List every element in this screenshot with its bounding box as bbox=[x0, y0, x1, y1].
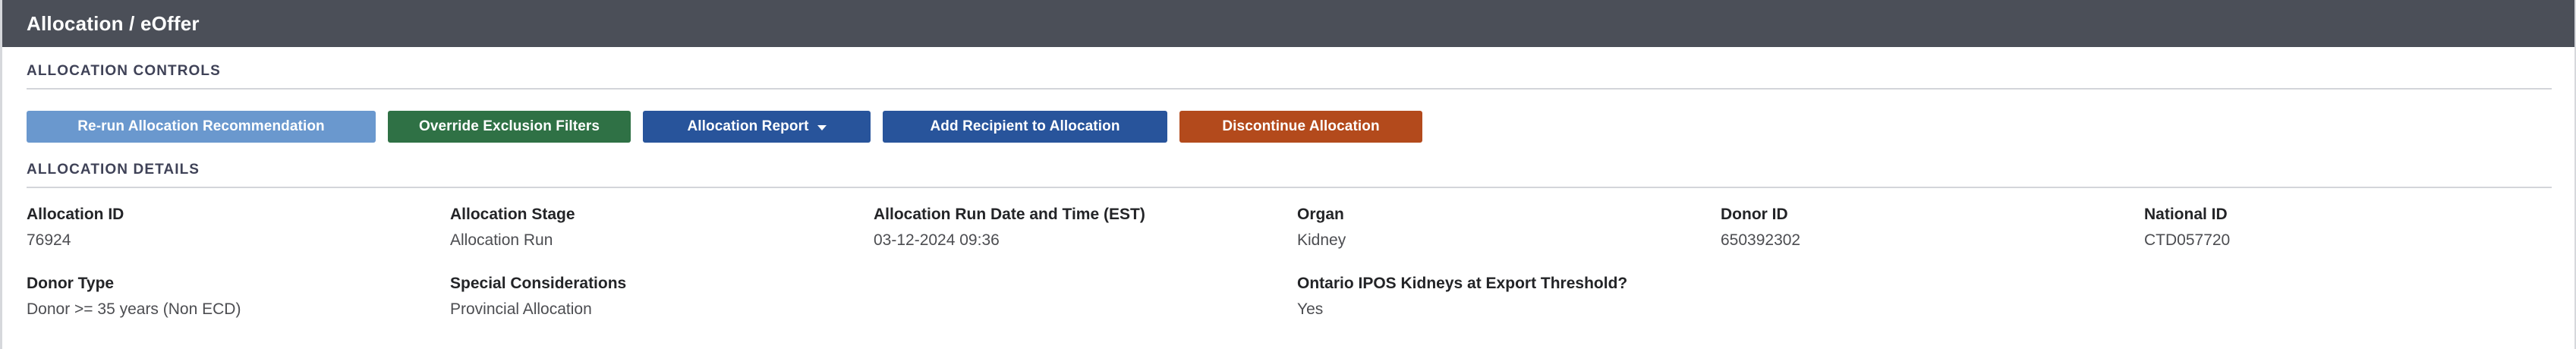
allocation-eoffer-page: Allocation / eOffer Allocation Controls … bbox=[0, 0, 2576, 349]
field-label: Allocation Run Date and Time (EST) bbox=[874, 205, 1297, 225]
window-titlebar: Allocation / eOffer bbox=[2, 0, 2574, 47]
field-value: Allocation Run bbox=[450, 231, 874, 250]
field-value: 03-12-2024 09:36 bbox=[874, 231, 1297, 250]
field-donor-id: Donor ID 650392302 bbox=[1721, 205, 2144, 251]
add-recipient-to-allocation-button[interactable]: Add Recipient to Allocation bbox=[883, 111, 1167, 143]
chevron-down-icon bbox=[817, 125, 827, 130]
override-exclusion-filters-label: Override Exclusion Filters bbox=[419, 118, 600, 135]
page-title: Allocation / eOffer bbox=[27, 12, 200, 36]
allocation-details-heading: Allocation Details bbox=[27, 146, 2552, 187]
field-value: 76924 bbox=[27, 231, 450, 250]
field-value: CTD057720 bbox=[2144, 231, 2568, 250]
allocation-report-label: Allocation Report bbox=[687, 118, 808, 135]
allocation-controls-heading: Allocation Controls bbox=[27, 47, 2552, 88]
rerun-allocation-recommendation-label: Re-run Allocation Recommendation bbox=[77, 118, 325, 135]
field-value: Donor >= 35 years (Non ECD) bbox=[27, 300, 450, 319]
rerun-allocation-recommendation-button[interactable]: Re-run Allocation Recommendation bbox=[27, 111, 376, 143]
add-recipient-to-allocation-label: Add Recipient to Allocation bbox=[930, 118, 1120, 135]
field-label: Organ bbox=[1297, 205, 1721, 225]
field-label: Allocation Stage bbox=[450, 205, 874, 225]
field-organ: Organ Kidney bbox=[1297, 205, 1721, 251]
field-donor-type: Donor Type Donor >= 35 years (Non ECD) bbox=[27, 274, 450, 320]
allocation-details-grid: Allocation ID 76924 Allocation Stage All… bbox=[27, 188, 2552, 319]
discontinue-allocation-button[interactable]: Discontinue Allocation bbox=[1179, 111, 1422, 143]
field-allocation-stage: Allocation Stage Allocation Run bbox=[450, 205, 874, 251]
field-value: Kidney bbox=[1297, 231, 1721, 250]
field-ontario-ipos-kidneys-export-threshold: Ontario IPOS Kidneys at Export Threshold… bbox=[1297, 274, 1721, 320]
details-row: Allocation ID 76924 Allocation Stage All… bbox=[27, 205, 2552, 251]
field-value: Provincial Allocation bbox=[450, 300, 874, 319]
allocation-details-section: Allocation Details Allocation ID 76924 A… bbox=[2, 146, 2574, 319]
field-allocation-id: Allocation ID 76924 bbox=[27, 205, 450, 251]
allocation-controls-section: Allocation Controls Re-run Allocation Re… bbox=[2, 47, 2574, 146]
field-allocation-run-date-time: Allocation Run Date and Time (EST) 03-12… bbox=[874, 205, 1297, 251]
field-label: Allocation ID bbox=[27, 205, 450, 225]
field-national-id: National ID CTD057720 bbox=[2144, 205, 2568, 251]
allocation-controls-button-row: Re-run Allocation Recommendation Overrid… bbox=[27, 90, 2552, 146]
details-row: Donor Type Donor >= 35 years (Non ECD) S… bbox=[27, 274, 2552, 320]
field-label: Donor ID bbox=[1721, 205, 2144, 225]
field-label: Donor Type bbox=[27, 274, 450, 294]
field-label: Ontario IPOS Kidneys at Export Threshold… bbox=[1297, 274, 1721, 294]
field-label: Special Considerations bbox=[450, 274, 874, 294]
field-value: Yes bbox=[1297, 300, 1721, 319]
field-label: National ID bbox=[2144, 205, 2568, 225]
allocation-report-dropdown-button[interactable]: Allocation Report bbox=[643, 111, 871, 143]
field-special-considerations: Special Considerations Provincial Alloca… bbox=[450, 274, 874, 320]
override-exclusion-filters-button[interactable]: Override Exclusion Filters bbox=[388, 111, 631, 143]
discontinue-allocation-label: Discontinue Allocation bbox=[1222, 118, 1379, 135]
field-value: 650392302 bbox=[1721, 231, 2144, 250]
